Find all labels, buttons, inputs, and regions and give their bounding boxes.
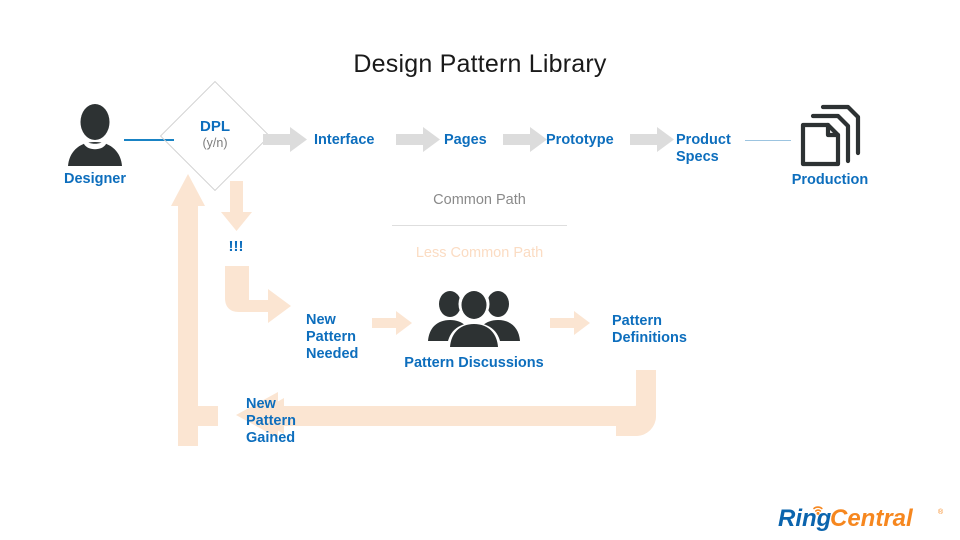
- diagram-canvas: Design Pattern Library Designer DPL (y/n…: [0, 0, 960, 540]
- legend-less-common-path: Less Common Path: [392, 245, 567, 262]
- pd-line1: Pattern: [612, 313, 687, 330]
- return-path-corner-right: [616, 396, 656, 436]
- person-icon: [66, 104, 124, 168]
- legend-divider: [392, 225, 567, 226]
- product-specs-line1: Product: [676, 132, 731, 149]
- pd-line2: Definitions: [612, 330, 687, 347]
- designer-label: Designer: [38, 171, 152, 188]
- new-pattern-needed-label: New Pattern Needed: [306, 312, 358, 363]
- logo-text-central: Central: [830, 505, 914, 532]
- ringcentral-logo: Ring Central ®: [778, 503, 948, 533]
- dpl-subtitle: (y/n): [176, 136, 254, 151]
- step-interface-label: Interface: [314, 132, 374, 149]
- production-label: Production: [768, 172, 892, 189]
- alert-label: !!!: [212, 238, 260, 255]
- product-specs-line2: Specs: [676, 149, 731, 166]
- dpl-title: DPL: [176, 118, 254, 136]
- npn-line3: Needed: [306, 346, 358, 363]
- arrow-discussions-to-definitions: [550, 311, 590, 335]
- return-path-corner-left-fill: [178, 426, 198, 446]
- arrow-alert-to-new-pattern-needed: [219, 266, 291, 330]
- page-title: Design Pattern Library: [0, 50, 960, 79]
- signal-dot-icon: [817, 512, 820, 515]
- logo-trademark: ®: [938, 508, 944, 516]
- return-path-horizontal: [280, 406, 620, 426]
- arrow-dpl-to-alert: [221, 181, 252, 231]
- documents-icon: [793, 95, 867, 167]
- arrow-pages-to-prototype: [503, 127, 547, 152]
- arrow-return-to-dpl: [171, 174, 205, 208]
- npn-line1: New: [306, 312, 358, 329]
- logo-text-ring: Ring: [778, 505, 832, 532]
- npg-line2: Pattern: [246, 413, 296, 430]
- step-product-specs-label: Product Specs: [676, 132, 731, 166]
- step-pages-label: Pages: [444, 132, 487, 149]
- npn-line2: Pattern: [306, 329, 358, 346]
- npg-line1: New: [246, 396, 296, 413]
- step-prototype-label: Prototype: [546, 132, 614, 149]
- dpl-decision-label: DPL (y/n): [176, 118, 254, 151]
- npg-line3: Gained: [246, 430, 296, 447]
- pattern-definitions-label: Pattern Definitions: [612, 313, 687, 347]
- arrow-interface-to-pages: [396, 127, 440, 152]
- people-group-icon: [428, 289, 520, 347]
- arrow-needed-to-discussions: [372, 311, 412, 335]
- new-pattern-gained-label: New Pattern Gained: [246, 396, 296, 447]
- arrow-prototype-to-product-specs: [630, 127, 674, 152]
- return-path-vertical-left: [178, 205, 198, 427]
- arrow-dpl-to-interface: [263, 127, 307, 152]
- legend-common-path: Common Path: [392, 192, 567, 209]
- connector-specs-production: [745, 140, 791, 141]
